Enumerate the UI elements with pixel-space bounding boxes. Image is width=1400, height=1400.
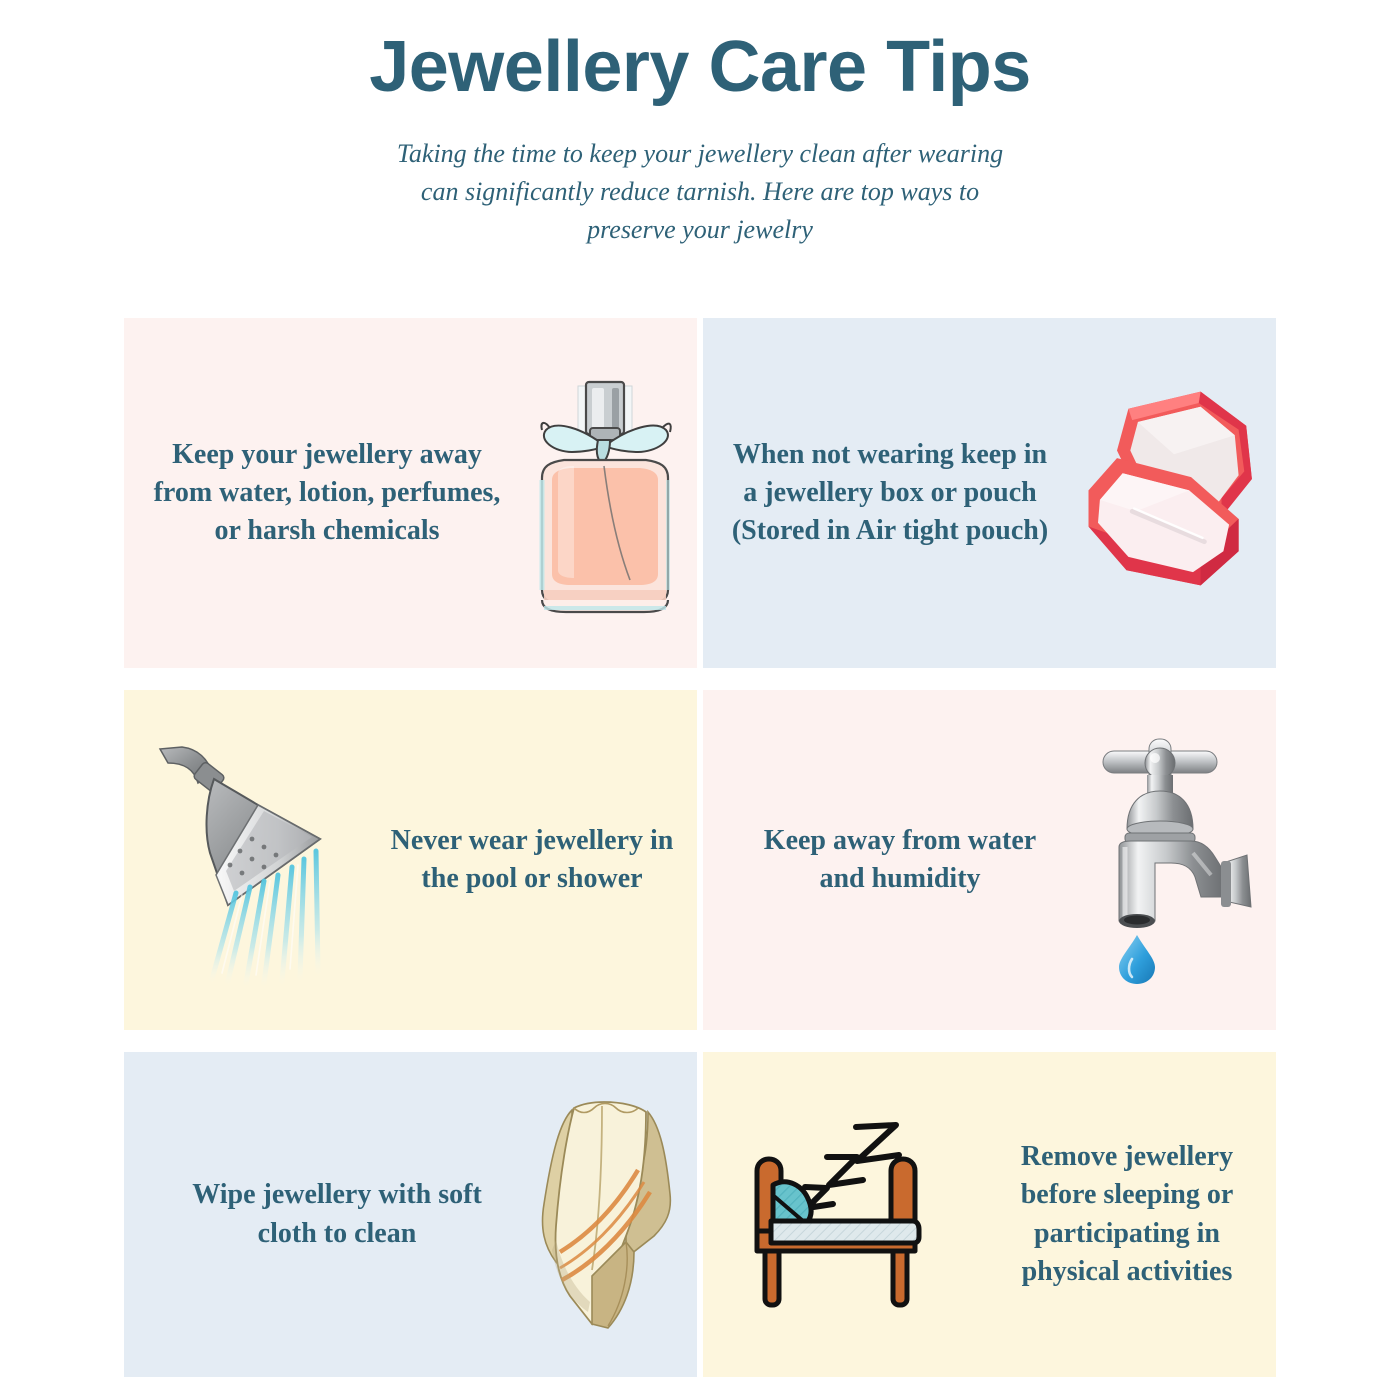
page-subtitle: Taking the time to keep your jewellery c…	[390, 109, 1010, 249]
tip-card-6[interactable]: Remove jewellery before sleeping or part…	[703, 1052, 1276, 1377]
tip-card-3-text: Never wear jewellery in the pool or show…	[382, 822, 682, 898]
tip-card-5-text: Wipe jewellery with soft cloth to clean	[172, 1176, 502, 1252]
tips-grid: Keep your jewellery away from water, lot…	[124, 318, 1276, 1377]
shower-head-icon	[154, 735, 364, 985]
tip-card-1[interactable]: Keep your jewellery away from water, lot…	[124, 318, 697, 668]
perfume-bottle-icon	[520, 368, 690, 618]
tip-card-1-text: Keep your jewellery away from water, lot…	[142, 436, 512, 550]
page-title: Jewellery Care Tips	[0, 0, 1400, 109]
tip-card-2[interactable]: When not wearing keep in a jewellery box…	[703, 318, 1276, 668]
infographic-page: Jewellery Care Tips Taking the time to k…	[0, 0, 1400, 1400]
tip-card-5[interactable]: Wipe jewellery with soft cloth to clean	[124, 1052, 697, 1377]
tip-card-4-text: Keep away from water and humidity	[755, 822, 1045, 898]
ring-box-icon	[1079, 384, 1269, 603]
tip-card-6-text: Remove jewellery before sleeping or part…	[992, 1138, 1262, 1290]
cleaning-cloth-icon	[530, 1100, 695, 1330]
header: Jewellery Care Tips Taking the time to k…	[0, 0, 1400, 249]
tip-card-2-text: When not wearing keep in a jewellery box…	[725, 436, 1055, 550]
tip-card-3[interactable]: Never wear jewellery in the pool or show…	[124, 690, 697, 1030]
bed-sleep-icon	[741, 1115, 956, 1315]
tip-card-4[interactable]: Keep away from water and humidity	[703, 690, 1276, 1030]
faucet-drip-icon	[1075, 735, 1265, 985]
